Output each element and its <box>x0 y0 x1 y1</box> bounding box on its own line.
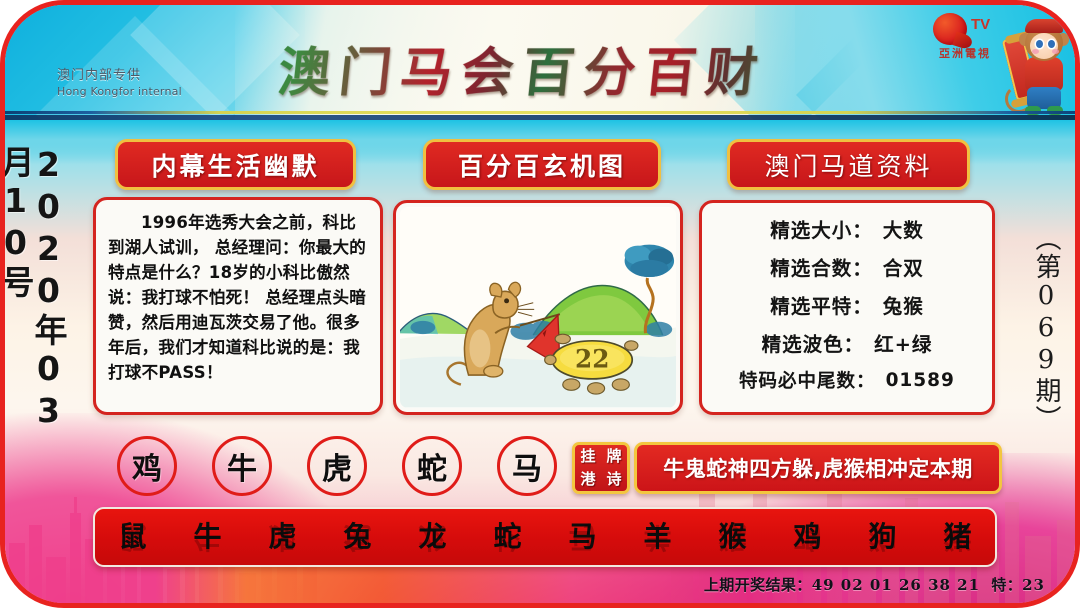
humor-card: 1996年选秀大会之前，科比到湖人试训， 总经理问：你最大的特点是什么？18岁的… <box>93 197 383 415</box>
special-label: 特： <box>991 576 1022 594</box>
page-title: 澳门马会百分百财 <box>239 29 807 105</box>
monkey-cap <box>1025 19 1063 33</box>
last-draw-label: 上期开奖结果： <box>704 576 812 594</box>
data-row-key: 精选波色： <box>762 328 865 357</box>
supply-note: 澳门内部专供 Hong Kongfor internal <box>57 67 182 99</box>
rat-flag-coin-illustration-icon: 22 <box>400 207 676 408</box>
data-row: 精选平特： 兔猴 <box>712 285 982 323</box>
data-row-value: 01589 <box>886 370 955 391</box>
poem-bar: 牛鬼蛇神四方躲,虎猴相冲定本期 <box>634 442 1002 494</box>
zodiac-circle[interactable]: 蛇 <box>402 436 462 496</box>
special-number: 23 <box>1022 576 1045 594</box>
data-section-title-label: 澳门马道资料 <box>764 147 932 183</box>
data-card: 精选大小： 大数 精选合数： 合双 精选平特： 兔猴 精选波色： 红+绿 特码必… <box>699 200 995 415</box>
picture-section-title: 百分百玄机图 <box>423 139 661 190</box>
data-row: 精选大小： 大数 <box>712 209 982 247</box>
zodiac-circle[interactable]: 鸡 <box>117 436 177 496</box>
poem-badge-char: 挂 <box>580 449 595 464</box>
header-banner: 澳门内部专供 Hong Kongfor internal 澳门马会百分百财 TV… <box>5 5 1080 120</box>
zodiac-circle[interactable]: 牛 <box>212 436 272 496</box>
zodiac-item[interactable]: 羊 <box>643 523 671 551</box>
zodiac-circle[interactable]: 虎 <box>307 436 367 496</box>
monkey-cheek-left <box>1032 49 1039 54</box>
data-row: 特码必中尾数： 01589 <box>712 361 982 399</box>
data-row-value: 合双 <box>883 252 924 281</box>
monkey-eye-left <box>1036 40 1043 48</box>
header-underline-gold <box>5 111 1080 114</box>
issue-vertical-label: （第069期） <box>1019 225 1059 425</box>
data-row: 精选波色： 红+绿 <box>712 323 982 361</box>
data-row-value: 兔猴 <box>883 290 924 319</box>
selected-zodiac-circles: 鸡 牛 虎 蛇 马 <box>117 437 557 495</box>
data-row-key: 特码必中尾数： <box>739 367 876 393</box>
atv-logo: TV 亞洲電視 <box>917 13 1013 65</box>
last-draw-numbers: 49 02 01 26 38 21 <box>812 576 980 594</box>
zodiac-item[interactable]: 鸡 <box>793 523 821 551</box>
atv-tv-label: TV <box>971 16 990 33</box>
mystery-illustration: 22 <box>400 207 676 408</box>
zodiac-list-bar: 鼠 牛 虎 兔 龙 蛇 马 羊 猴 鸡 狗 猪 <box>93 507 997 567</box>
zodiac-item[interactable]: 马 <box>568 523 596 551</box>
last-draw-result: 上期开奖结果：49 02 01 26 38 21 特：23 <box>704 574 1045 595</box>
picture-section-title-label: 百分百玄机图 <box>458 147 626 183</box>
atv-swoosh-icon <box>933 13 967 45</box>
data-row-key: 精选平特： <box>770 290 873 319</box>
zodiac-item[interactable]: 龙 <box>418 523 446 551</box>
monkey-body <box>1025 57 1063 91</box>
lottery-poster: 澳门内部专供 Hong Kongfor internal 澳门马会百分百财 TV… <box>0 0 1080 608</box>
zodiac-circle[interactable]: 马 <box>497 436 557 496</box>
humor-section-title: 内幕生活幽默 <box>115 139 356 190</box>
zodiac-item[interactable]: 猴 <box>718 523 746 551</box>
data-row-key: 精选大小： <box>770 214 873 243</box>
poem-badge-char: 牌 <box>606 449 621 464</box>
zodiac-item[interactable]: 蛇 <box>493 523 521 551</box>
zodiac-item[interactable]: 猪 <box>943 523 971 551</box>
picture-card[interactable]: 22 <box>393 200 683 415</box>
svg-text:22: 22 <box>575 344 609 373</box>
data-row-value: 大数 <box>883 214 924 243</box>
poem-badge-char: 港 <box>580 472 595 487</box>
zodiac-item[interactable]: 牛 <box>193 523 221 551</box>
data-row-key: 精选合数： <box>770 252 873 281</box>
poem-badge-char: 诗 <box>606 472 621 487</box>
zodiac-item[interactable]: 虎 <box>268 523 296 551</box>
supply-note-en: Hong Kongfor internal <box>57 85 182 100</box>
data-section-title: 澳门马道资料 <box>727 139 970 190</box>
atv-mark-icon: TV <box>917 13 1013 47</box>
data-row-value: 红+绿 <box>874 328 932 357</box>
monkey-eye-right <box>1048 40 1055 48</box>
monkey-cheek-right <box>1052 49 1059 54</box>
zodiac-item[interactable]: 狗 <box>868 523 896 551</box>
poem-badge: 挂 牌 港 诗 <box>572 442 630 494</box>
zodiac-item[interactable]: 鼠 <box>118 523 146 551</box>
date-vertical-label: 2020年03月10号 <box>19 145 65 445</box>
monkey-mascot-icon <box>1003 11 1079 120</box>
poster-frame: 澳门内部专供 Hong Kongfor internal 澳门马会百分百财 TV… <box>0 0 1080 608</box>
poem-text: 牛鬼蛇神四方躲,虎猴相冲定本期 <box>663 453 972 483</box>
supply-note-cn: 澳门内部专供 <box>57 67 182 85</box>
zodiac-item[interactable]: 兔 <box>343 523 371 551</box>
humor-section-title-label: 内幕生活幽默 <box>151 147 319 183</box>
humor-body-text: 1996年选秀大会之前，科比到湖人试训， 总经理问：你最大的特点是什么？18岁的… <box>108 210 368 386</box>
data-row: 精选合数： 合双 <box>712 247 982 285</box>
